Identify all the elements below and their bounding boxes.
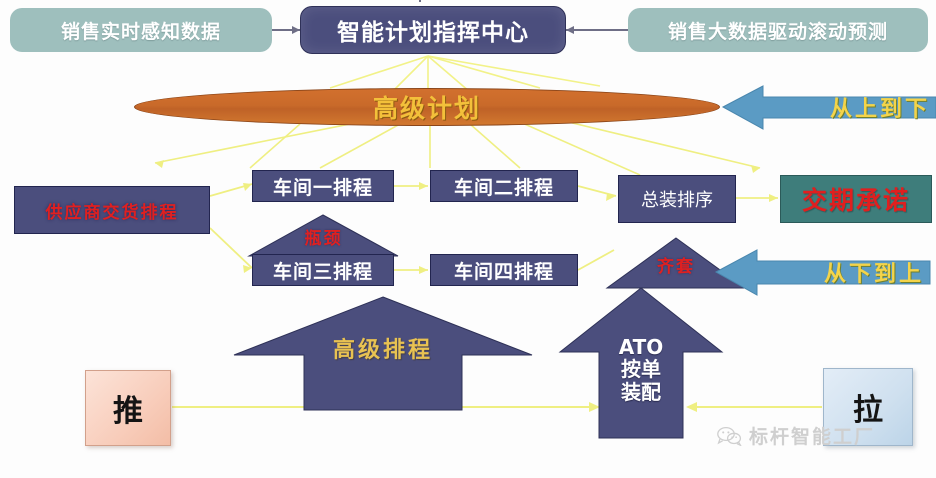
workshop-3-label: 车间三排程 (273, 257, 373, 284)
high-level-plan-label: 高级计划 (373, 89, 481, 125)
supplier-delivery-schedule-label: 供应商交货排程 (46, 198, 179, 223)
bottleneck-label: 瓶颈 (305, 224, 343, 249)
bottom-up-arrow[interactable]: 从下到上 (757, 258, 930, 286)
workshop-4-label: 车间四排程 (454, 257, 554, 284)
workshop-1-schedule-box[interactable]: 车间一排程 (252, 170, 394, 202)
final-assembly-sequence-box[interactable]: 总装排序 (618, 175, 736, 223)
delivery-commitment-box[interactable]: 交期承诺 (780, 175, 932, 223)
watermark: 标杆智能工厂 (716, 422, 875, 449)
sales-realtime-data-label: 销售实时感知数据 (61, 17, 221, 44)
hub-ray-group (330, 56, 600, 92)
top-down-label: 从上到下 (830, 91, 936, 123)
ato-label-line3: 装配 (599, 381, 683, 403)
top-down-arrow[interactable]: 从上到下 (763, 94, 936, 120)
wechat-icon (716, 426, 742, 446)
high-level-plan-ellipse[interactable]: 高级计划 (134, 88, 720, 126)
bottleneck-label-wrap: 瓶颈 (249, 224, 398, 248)
sales-realtime-data-box[interactable]: 销售实时感知数据 (10, 8, 272, 52)
workshop-2-label: 车间二排程 (454, 173, 554, 200)
workshop-3-schedule-box[interactable]: 车间三排程 (252, 254, 394, 286)
watermark-label: 标杆智能工厂 (749, 422, 875, 449)
supplier-delivery-schedule-box[interactable]: 供应商交货排程 (14, 186, 210, 234)
ato-label-line1: ATO (599, 336, 683, 358)
ato-label-wrap: ATO 按单 装配 (599, 336, 683, 426)
push-box[interactable]: 推 (85, 370, 171, 446)
sales-bigdata-forecast-box[interactable]: 销售大数据驱动滚动预测 (628, 8, 928, 52)
planning-command-center-box[interactable]: 智能计划指挥中心 (300, 6, 566, 54)
advanced-scheduling-label: 高级排程 (333, 332, 433, 364)
final-assembly-sequence-label: 总装排序 (641, 186, 713, 212)
delivery-commitment-label: 交期承诺 (802, 181, 910, 217)
ato-label-line2: 按单 (599, 358, 683, 380)
bottom-up-label: 从下到上 (824, 256, 930, 288)
sales-bigdata-forecast-label: 销售大数据驱动滚动预测 (668, 17, 888, 44)
arrowhead-right-hub (566, 26, 574, 34)
arrowhead-left-hub (292, 26, 300, 34)
push-label: 推 (113, 386, 143, 430)
plan-ray-group (155, 120, 760, 175)
workshop-1-label: 车间一排程 (273, 173, 373, 200)
push-pull-arrow-group (172, 402, 822, 412)
advanced-scheduling-label-wrap: 高级排程 (304, 334, 462, 362)
workshop-4-schedule-box[interactable]: 车间四排程 (430, 254, 578, 286)
planning-command-center-label: 智能计划指挥中心 (337, 13, 529, 47)
diagram-canvas: 销售实时感知数据 智能计划指挥中心 销售大数据驱动滚动预测 高级计划 从上到下 … (0, 0, 936, 478)
kitting-label: 齐套 (657, 252, 695, 277)
workshop-2-schedule-box[interactable]: 车间二排程 (430, 170, 578, 202)
kitting-label-wrap: 齐套 (607, 252, 745, 276)
